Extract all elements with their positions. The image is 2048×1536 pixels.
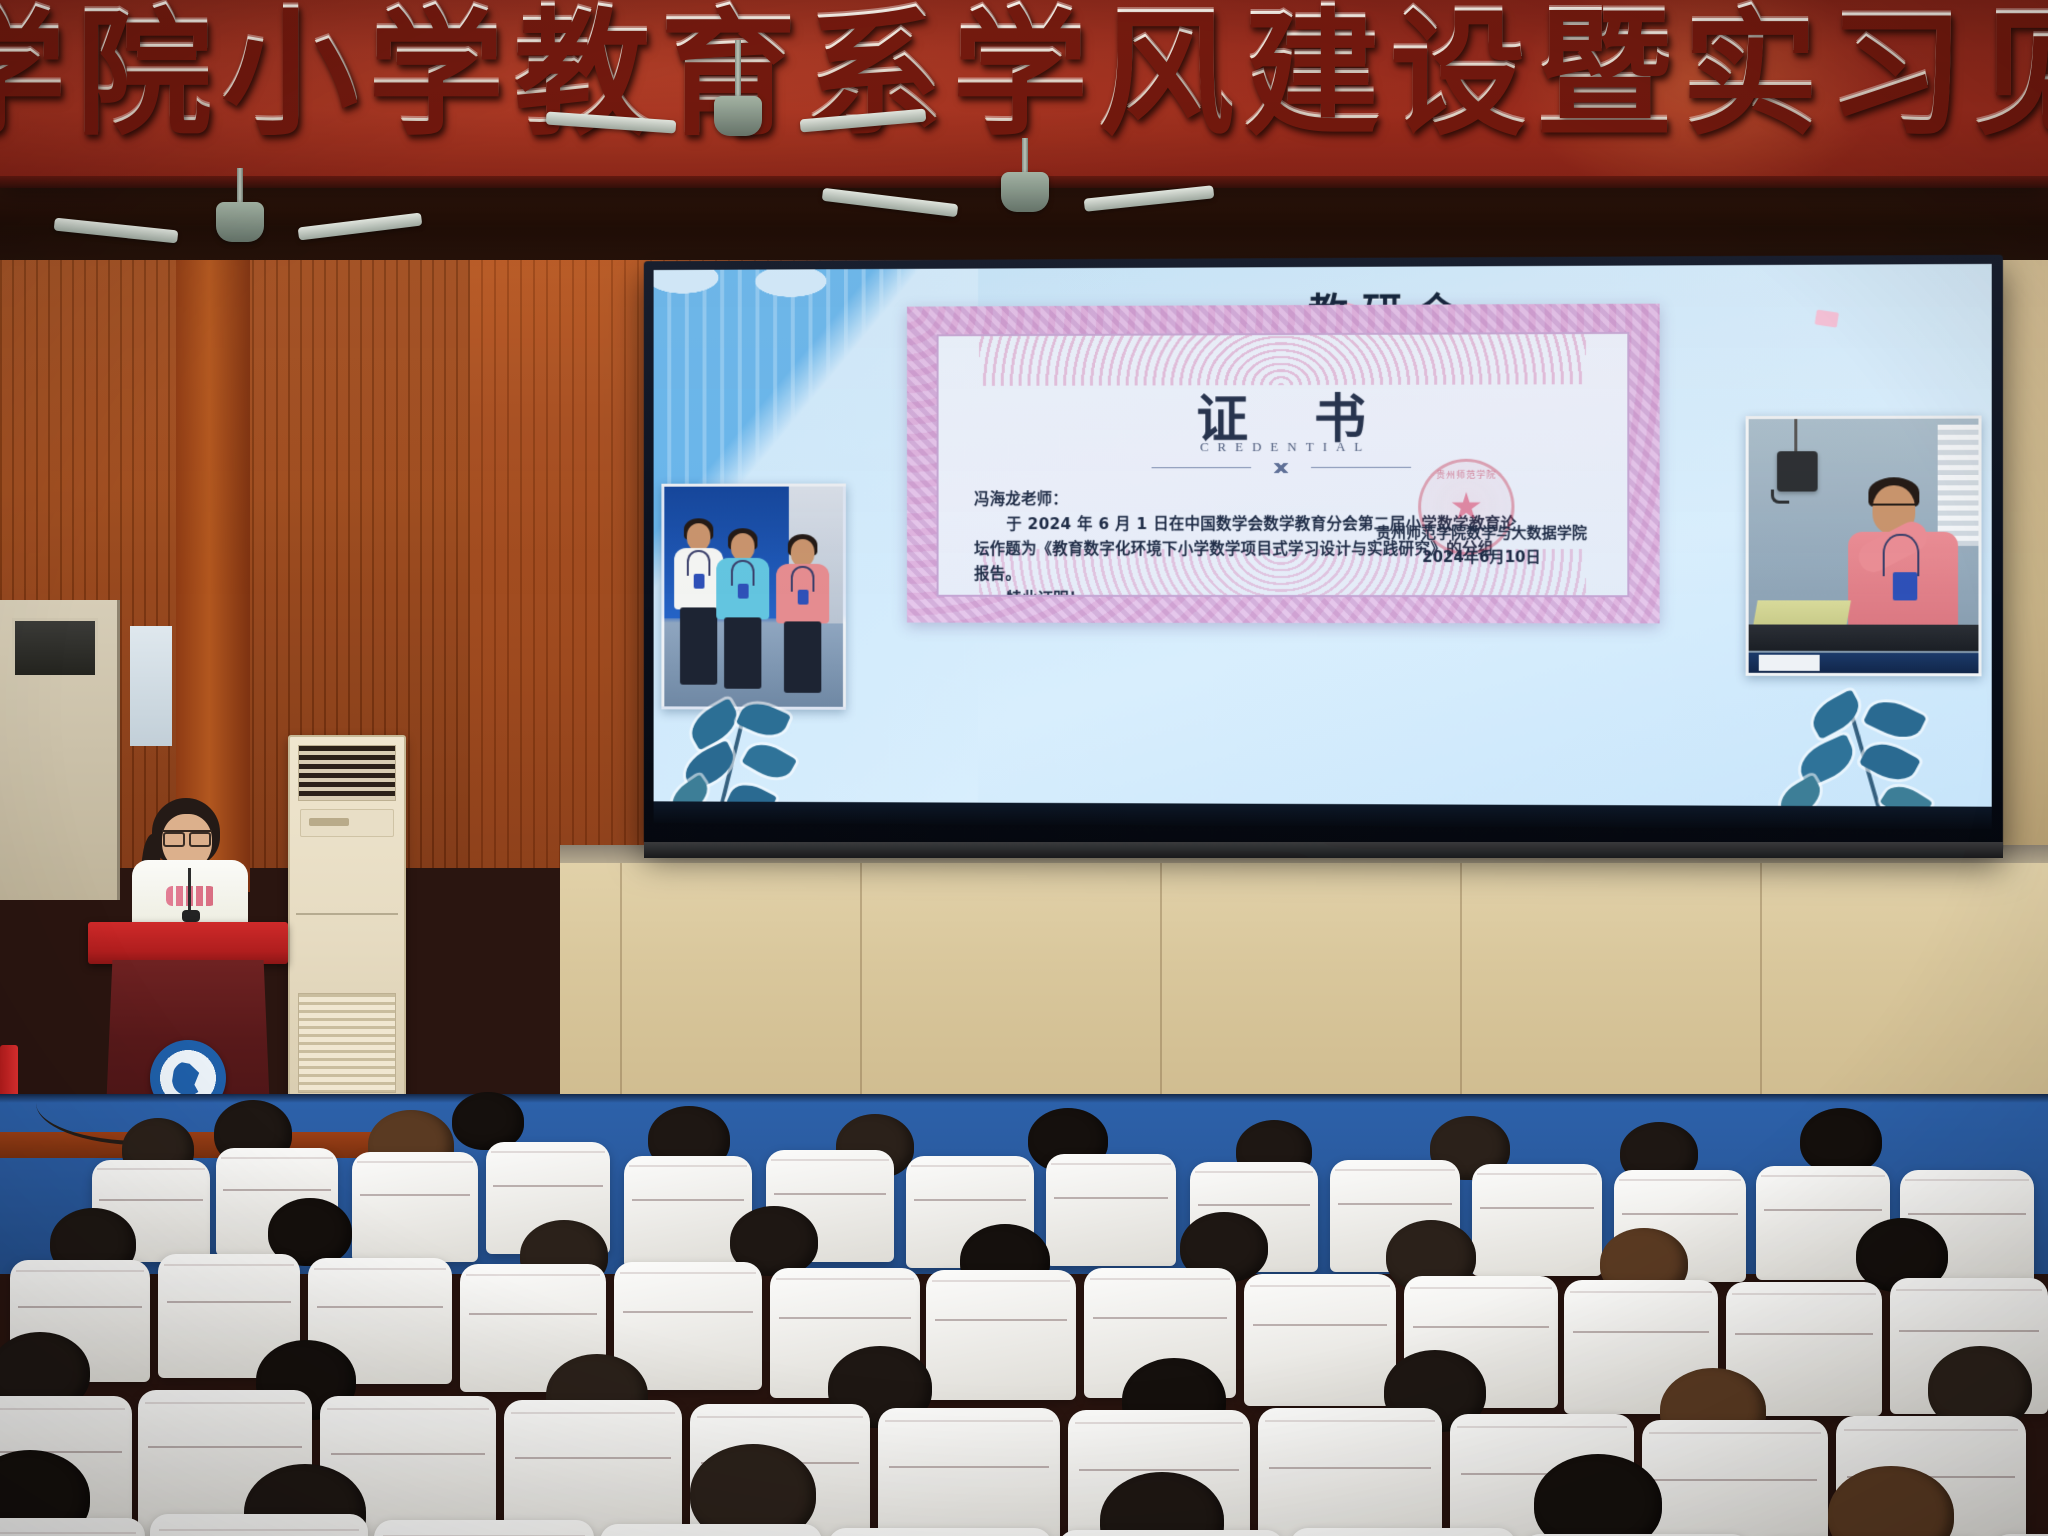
podium-top (88, 922, 288, 964)
person-lanyard (731, 560, 755, 586)
photo-speaker-cable (1771, 490, 1789, 504)
person-head (687, 523, 711, 550)
audience-chair[interactable] (1258, 1408, 1442, 1536)
glasses-icon (1870, 504, 1917, 514)
banner-title-text: 学院小学教育系学风建设暨实习见习总 (0, 0, 2048, 148)
auditorium-photo: 学院小学教育系学风建设暨实习见习总 教 (0, 0, 2048, 1536)
person-badge (694, 574, 705, 589)
microphone-icon (182, 910, 200, 922)
person-head (731, 533, 755, 560)
microphone-stem (188, 868, 191, 914)
certificate-subtitle: CREDENTIAL (939, 438, 1628, 455)
audience-seating (0, 1078, 2048, 1536)
person-head (791, 539, 815, 566)
glasses-icon (162, 830, 212, 841)
fan-motor (216, 202, 264, 242)
inset-photo-right (1746, 416, 1982, 677)
leaf-icon (736, 696, 791, 743)
ceiling-fan-right (900, 138, 1150, 234)
certificate-divider (1152, 463, 1412, 473)
shirt-graphic (166, 886, 216, 906)
audience-chair[interactable] (600, 1524, 822, 1536)
audience-chair[interactable] (0, 1518, 145, 1536)
stage-speaker-person (128, 798, 252, 928)
audience-chair[interactable] (150, 1514, 368, 1536)
fan-rod (735, 40, 741, 102)
door-window (12, 618, 98, 678)
wall-light-panel (130, 626, 172, 746)
person-lanyard (1883, 534, 1920, 576)
photo-bottom-strip (1749, 653, 1979, 674)
audience-chair[interactable] (1046, 1154, 1176, 1266)
ac-seam (296, 913, 398, 915)
photo-wall-speaker (1777, 451, 1818, 491)
audience-chair[interactable] (1290, 1528, 1516, 1536)
person-badge (738, 584, 749, 599)
person-badge (798, 590, 809, 605)
person-legs (680, 607, 717, 684)
photo-person (774, 534, 833, 703)
projection-screen[interactable]: 教研合一 证 书 CREDENTIAL 冯海龙老师： 于 2024 年 (644, 255, 2003, 851)
audience-head (690, 1444, 816, 1536)
photo-desk (1749, 624, 1979, 651)
audience-head (1800, 1108, 1882, 1174)
audience-chair[interactable] (374, 1520, 594, 1536)
person-lanyard (791, 566, 815, 592)
slide-surface: 教研合一 证 书 CREDENTIAL 冯海龙老师： 于 2024 年 (654, 264, 1992, 829)
person-legs (784, 621, 821, 692)
audience-chair[interactable] (926, 1270, 1076, 1400)
fan-motor (1001, 172, 1049, 212)
person-lanyard (687, 550, 711, 576)
certificate-body-line-4: 特此证明！ (974, 587, 1597, 597)
ac-control-panel[interactable] (300, 809, 394, 837)
audience-chair[interactable] (352, 1152, 478, 1262)
audience-chair[interactable] (504, 1400, 682, 1536)
screen-bottom-bezel (654, 801, 1992, 829)
seal-text: 贵州师范学院 (1421, 468, 1511, 481)
certificate-date: 2024年6月10日 (1376, 545, 1587, 569)
audience-chair[interactable] (1472, 1164, 1602, 1276)
fan-motor (714, 96, 762, 136)
audience-chair[interactable] (878, 1408, 1060, 1536)
audience-chair[interactable] (1244, 1274, 1396, 1406)
ceiling-fan-left (120, 168, 360, 264)
inset-photo-left (661, 484, 845, 710)
air-conditioner-unit[interactable] (288, 735, 406, 1105)
seal-star-icon (1451, 492, 1481, 522)
leaf-icon (1863, 693, 1927, 746)
audience-chair[interactable] (1058, 1530, 1284, 1536)
diamond-ornament-icon (1257, 463, 1305, 473)
photo-speaker-mount (1794, 419, 1797, 453)
ceiling-fan-center (618, 40, 858, 136)
audience-chair[interactable] (828, 1528, 1052, 1536)
person-legs (724, 617, 761, 688)
photo-bottom-card (1759, 655, 1820, 671)
screen-shadow-bar (644, 842, 2003, 858)
leaf-icon-cluster-left (675, 698, 852, 818)
certificate-signature-block: 贵州师范学院数学与大数据学院 2024年6月10日 (1376, 521, 1587, 569)
certificate-image: 证 书 CREDENTIAL 冯海龙老师： 于 2024 年 6 月 1 日在中… (907, 304, 1660, 624)
photo-person (715, 528, 772, 699)
person-badge (1893, 572, 1917, 600)
wall-column (176, 232, 250, 892)
ac-top-grill (298, 745, 396, 801)
certificate-inner-panel: 证 书 CREDENTIAL 冯海龙老师： 于 2024 年 6 月 1 日在中… (937, 332, 1630, 597)
certificate-issuer: 贵州师范学院数学与大数据学院 (1376, 521, 1587, 545)
audience-chair[interactable] (1642, 1420, 1828, 1536)
leaf-icon (741, 736, 797, 786)
